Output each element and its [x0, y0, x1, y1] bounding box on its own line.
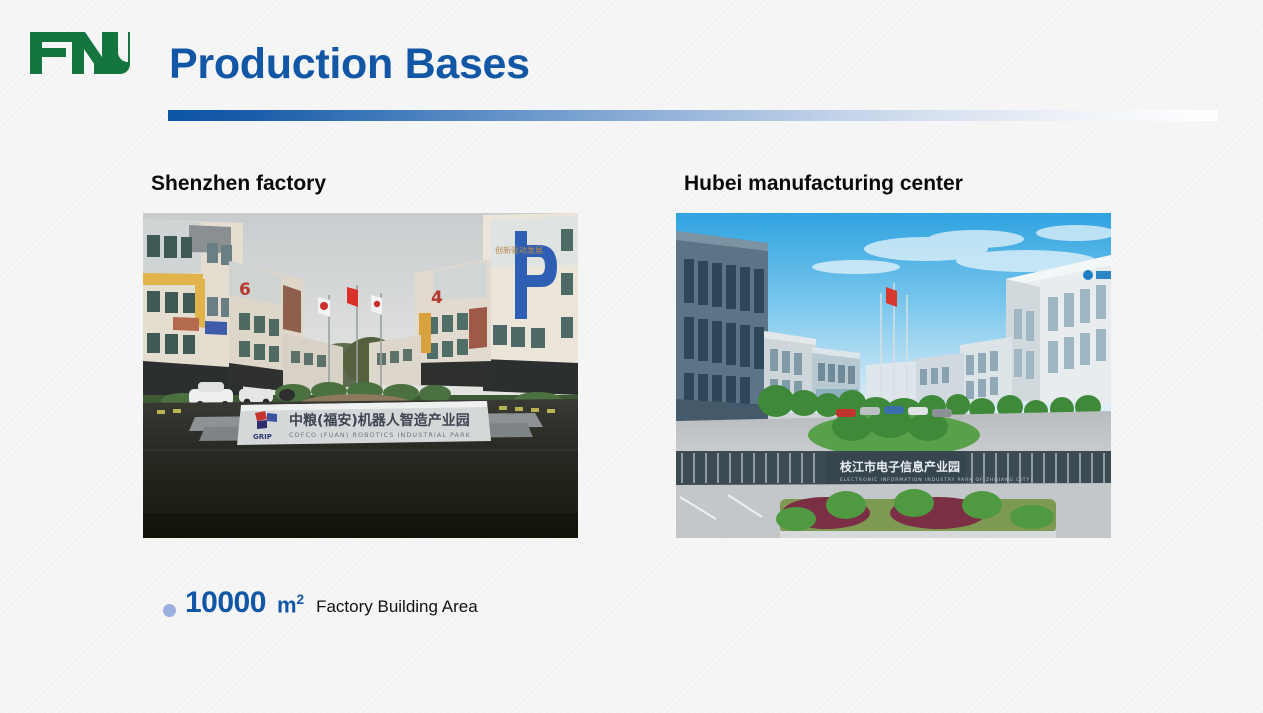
stat-unit-base: m [277, 592, 297, 617]
panel-heading-hubei: Hubei manufacturing center [684, 172, 963, 196]
factory-area-stat: 10000 m2 Factory Building Area [163, 586, 478, 620]
bullet-dot-icon [163, 604, 176, 617]
title-underline-gradient [168, 110, 1218, 121]
shenzhen-factory-photo: 6 [143, 213, 578, 538]
svg-text:GRIP: GRIP [253, 433, 272, 441]
svg-text:ELECTRONIC INFORMATION INDUSTR: ELECTRONIC INFORMATION INDUSTRY PARK OF … [840, 477, 1030, 483]
panel-heading-shenzhen: Shenzhen factory [151, 172, 326, 196]
page-title: Production Bases [169, 42, 530, 87]
svg-text:枝江市电子信息产业园: 枝江市电子信息产业园 [839, 459, 960, 474]
svg-text:6: 6 [239, 280, 251, 300]
stat-unit-exponent: 2 [297, 592, 305, 607]
stat-number: 10000 [185, 586, 266, 620]
svg-text:COFCO (FUAN) ROBOTICS INDUSTRI: COFCO (FUAN) ROBOTICS INDUSTRIAL PARK [289, 431, 471, 439]
fny-logo [28, 24, 132, 78]
svg-text:4: 4 [431, 288, 443, 308]
svg-text:中粮(福安)机器人智造产业园: 中粮(福安)机器人智造产业园 [289, 412, 470, 429]
slide-root: Production Bases Shenzhen factory Hubei … [0, 0, 1263, 713]
stat-label: Factory Building Area [316, 597, 478, 617]
stat-unit: m2 [277, 592, 304, 618]
hubei-manufacturing-center-photo: 枝江市电子信息产业园 ELECTRONIC INFORMATION INDUST… [676, 213, 1111, 538]
svg-text:创新驱动发展: 创新驱动发展 [495, 245, 543, 255]
